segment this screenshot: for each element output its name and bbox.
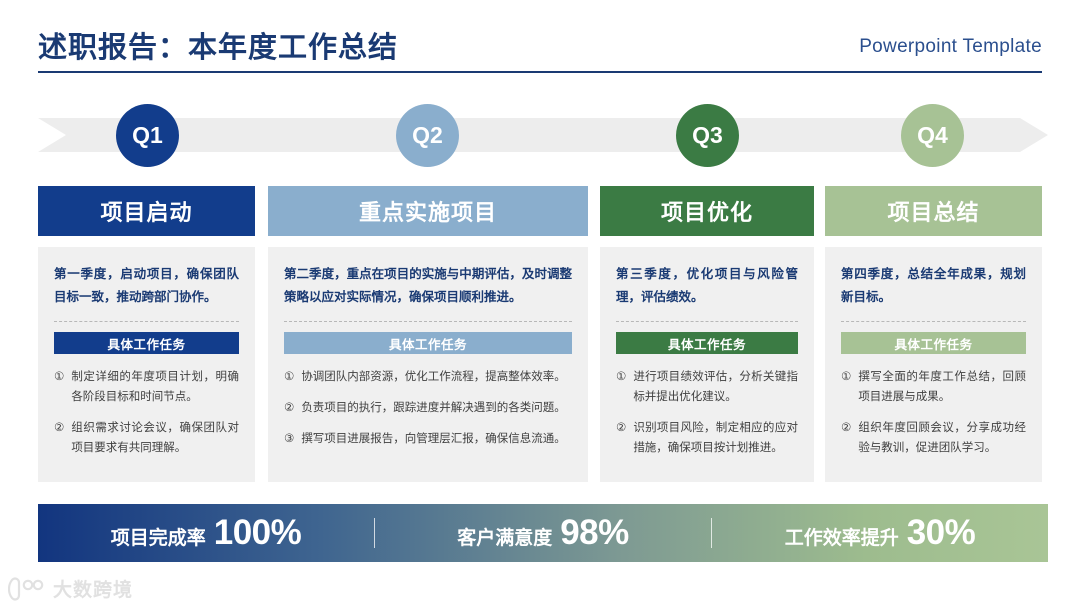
column-description-1: 第一季度，启动项目，确保团队目标一致，推动跨部门协作。 (54, 263, 239, 309)
timeline-arrow-band (38, 118, 1048, 152)
column-header-1[interactable]: 项目启动 (38, 186, 255, 236)
stat-value: 98% (560, 513, 629, 553)
task-text: 识别项目风险，制定相应的应对措施，确保项目按计划推进。 (633, 419, 798, 459)
task-number: ① (616, 368, 626, 408)
quarter-badge-label: Q1 (132, 122, 163, 149)
column-header-3[interactable]: 项目优化 (600, 186, 814, 236)
task-text: 制定详细的年度项目计划，明确各阶段目标和时间节点。 (71, 368, 239, 408)
dashed-divider (284, 321, 572, 322)
quarter-badge-label: Q2 (412, 122, 443, 149)
watermark: 大数跨境 (8, 575, 133, 602)
column-description-4: 第四季度，总结全年成果，规划新目标。 (841, 263, 1026, 309)
list-item: ②组织年度回顾会议，分享成功经验与教训，促进团队学习。 (841, 419, 1026, 459)
task-number: ② (616, 419, 626, 459)
task-text: 撰写全面的年度工作总结，回顾项目进展与成果。 (858, 368, 1026, 408)
task-text: 进行项目绩效评估，分析关键指标并提出优化建议。 (633, 368, 798, 408)
quarter-badge-label: Q3 (692, 122, 723, 149)
page-title: 述职报告：本年度工作总结 (38, 24, 398, 66)
stat-label: 客户满意度 (457, 523, 552, 550)
list-item: ②识别项目风险，制定相应的应对措施，确保项目按计划推进。 (616, 419, 798, 459)
quarter-badge-q4[interactable]: Q4 (901, 104, 964, 167)
stat-item-2: 客户满意度98% (375, 513, 711, 553)
quarter-badge-q1[interactable]: Q1 (116, 104, 179, 167)
list-item: ①进行项目绩效评估，分析关键指标并提出优化建议。 (616, 368, 798, 408)
task-text: 组织年度回顾会议，分享成功经验与教训，促进团队学习。 (858, 419, 1026, 459)
task-number: ③ (284, 430, 294, 450)
task-label-bar-3: 具体工作任务 (616, 332, 798, 354)
task-number: ② (284, 399, 294, 419)
task-text: 撰写项目进展报告，向管理层汇报，确保信息流通。 (301, 430, 572, 450)
list-item: ①撰写全面的年度工作总结，回顾项目进展与成果。 (841, 368, 1026, 408)
stat-value: 30% (907, 513, 976, 553)
column-body-4: 第四季度，总结全年成果，规划新目标。具体工作任务①撰写全面的年度工作总结，回顾项… (825, 247, 1042, 482)
header-divider-rule (38, 71, 1042, 73)
column-body-3: 第三季度，优化项目与风险管理，评估绩效。具体工作任务①进行项目绩效评估，分析关键… (600, 247, 814, 482)
quarter-column-4: 项目总结第四季度，总结全年成果，规划新目标。具体工作任务①撰写全面的年度工作总结… (825, 186, 1042, 482)
stat-label: 项目完成率 (111, 523, 206, 550)
list-item: ①协调团队内部资源，优化工作流程，提高整体效率。 (284, 368, 572, 388)
task-label-bar-1: 具体工作任务 (54, 332, 239, 354)
quarter-badge-q3[interactable]: Q3 (676, 104, 739, 167)
column-header-4[interactable]: 项目总结 (825, 186, 1042, 236)
task-number: ① (841, 368, 851, 408)
stat-label: 工作效率提升 (785, 523, 899, 550)
slide-header: 述职报告：本年度工作总结 Powerpoint Template (0, 0, 1080, 80)
watermark-text: 大数跨境 (53, 575, 133, 602)
task-number: ② (841, 419, 851, 459)
task-number: ② (54, 419, 64, 459)
task-list-4: ①撰写全面的年度工作总结，回顾项目进展与成果。②组织年度回顾会议，分享成功经验与… (841, 368, 1026, 458)
stat-item-1: 项目完成率100% (38, 513, 374, 553)
dashed-divider (616, 321, 798, 322)
watermark-logo-icon (8, 577, 46, 601)
dashed-divider (54, 321, 239, 322)
quarter-badge-label: Q4 (917, 122, 948, 149)
task-list-1: ①制定详细的年度项目计划，明确各阶段目标和时间节点。②组织需求讨论会议，确保团队… (54, 368, 239, 458)
task-number: ① (54, 368, 64, 408)
list-item: ③撰写项目进展报告，向管理层汇报，确保信息流通。 (284, 430, 572, 450)
column-description-2: 第二季度，重点在项目的实施与中期评估，及时调整策略以应对实际情况，确保项目顺利推… (284, 263, 572, 309)
task-list-3: ①进行项目绩效评估，分析关键指标并提出优化建议。②识别项目风险，制定相应的应对措… (616, 368, 798, 458)
column-body-2: 第二季度，重点在项目的实施与中期评估，及时调整策略以应对实际情况，确保项目顺利推… (268, 247, 588, 482)
task-text: 组织需求讨论会议，确保团队对项目要求有共同理解。 (71, 419, 239, 459)
stat-value: 100% (214, 513, 302, 553)
task-list-2: ①协调团队内部资源，优化工作流程，提高整体效率。②负责项目的执行，跟踪进度并解决… (284, 368, 572, 449)
list-item: ①制定详细的年度项目计划，明确各阶段目标和时间节点。 (54, 368, 239, 408)
dashed-divider (841, 321, 1026, 322)
column-body-1: 第一季度，启动项目，确保团队目标一致，推动跨部门协作。具体工作任务①制定详细的年… (38, 247, 255, 482)
column-description-3: 第三季度，优化项目与风险管理，评估绩效。 (616, 263, 798, 309)
header-subtitle: Powerpoint Template (859, 36, 1042, 58)
task-text: 协调团队内部资源，优化工作流程，提高整体效率。 (301, 368, 572, 388)
quarter-column-2: 重点实施项目第二季度，重点在项目的实施与中期评估，及时调整策略以应对实际情况，确… (268, 186, 588, 482)
task-text: 负责项目的执行，跟踪进度并解决遇到的各类问题。 (301, 399, 572, 419)
stat-item-3: 工作效率提升30% (712, 513, 1048, 553)
quarter-column-1: 项目启动第一季度，启动项目，确保团队目标一致，推动跨部门协作。具体工作任务①制定… (38, 186, 255, 482)
task-number: ① (284, 368, 294, 388)
list-item: ②组织需求讨论会议，确保团队对项目要求有共同理解。 (54, 419, 239, 459)
list-item: ②负责项目的执行，跟踪进度并解决遇到的各类问题。 (284, 399, 572, 419)
quarter-badge-q2[interactable]: Q2 (396, 104, 459, 167)
task-label-bar-4: 具体工作任务 (841, 332, 1026, 354)
task-label-bar-2: 具体工作任务 (284, 332, 572, 354)
stats-bar: 项目完成率100%客户满意度98%工作效率提升30% (38, 504, 1048, 562)
column-header-2[interactable]: 重点实施项目 (268, 186, 588, 236)
quarter-column-3: 项目优化第三季度，优化项目与风险管理，评估绩效。具体工作任务①进行项目绩效评估，… (600, 186, 814, 482)
